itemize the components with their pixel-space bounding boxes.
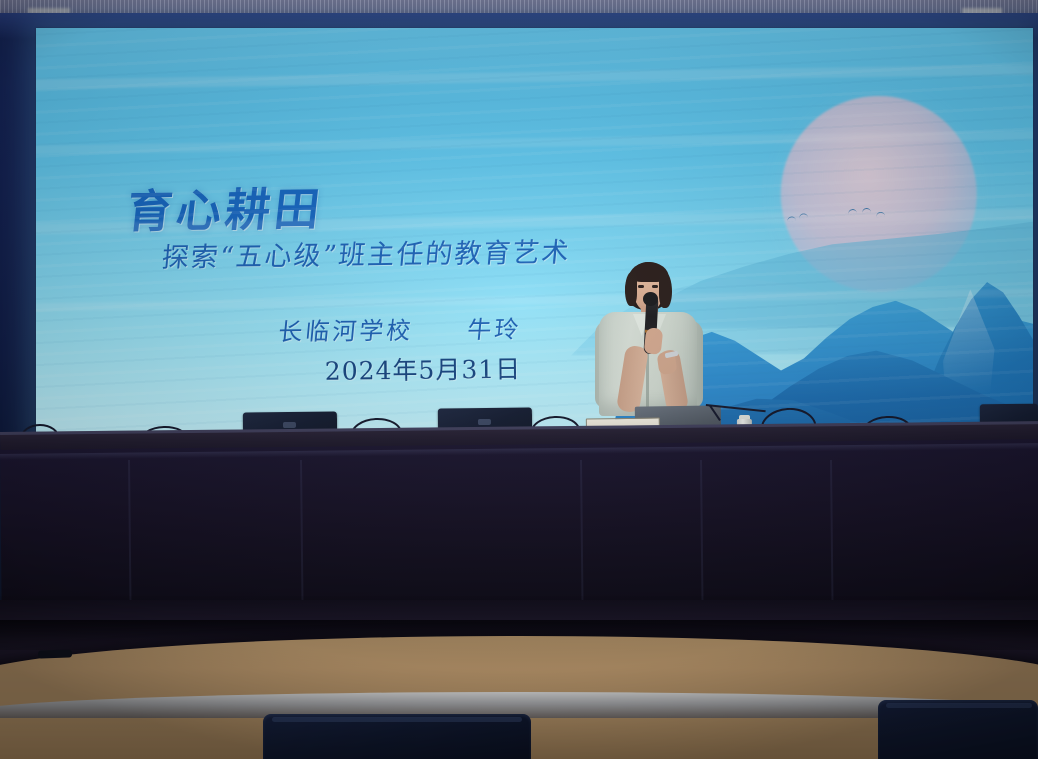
presenter-eye-right bbox=[652, 285, 658, 288]
foreground-chair-highlight bbox=[886, 703, 1032, 708]
presenter-hair-left bbox=[625, 272, 637, 306]
screenshot-root: 育心耕田 探索“五心级”班主任的教育艺术 长临河学校 牛玲 2024年5月31日 bbox=[0, 0, 1038, 759]
ceiling-grid-texture bbox=[0, 0, 1038, 14]
presenter-hand-left bbox=[644, 327, 664, 355]
foreground-chair bbox=[878, 700, 1038, 759]
presenter-hair-right bbox=[659, 272, 672, 308]
laptop-logo-icon bbox=[283, 422, 296, 428]
foreground-chair-highlight bbox=[272, 717, 522, 722]
slide-surface: 育心耕田 探索“五心级”班主任的教育艺术 长临河学校 牛玲 2024年5月31日 bbox=[36, 28, 1033, 441]
slide-byline: 长临河学校 牛玲 bbox=[277, 309, 523, 347]
slide-subtitle: 探索“五心级”班主任的教育艺术 bbox=[160, 230, 572, 274]
slide-title: 育心耕田 bbox=[124, 173, 327, 241]
laptop-logo-icon bbox=[478, 419, 491, 425]
presenter-eye-left bbox=[638, 285, 644, 288]
microphone-head bbox=[643, 292, 658, 306]
slide-date: 2024年5月31日 bbox=[325, 350, 522, 388]
slide-text-block: 育心耕田 探索“五心级”班主任的教育艺术 长临河学校 牛玲 2024年5月31日 bbox=[36, 28, 1033, 441]
led-screen: 育心耕田 探索“五心级”班主任的教育艺术 长临河学校 牛玲 2024年5月31日 bbox=[36, 28, 1033, 441]
foreground-object bbox=[38, 649, 72, 658]
